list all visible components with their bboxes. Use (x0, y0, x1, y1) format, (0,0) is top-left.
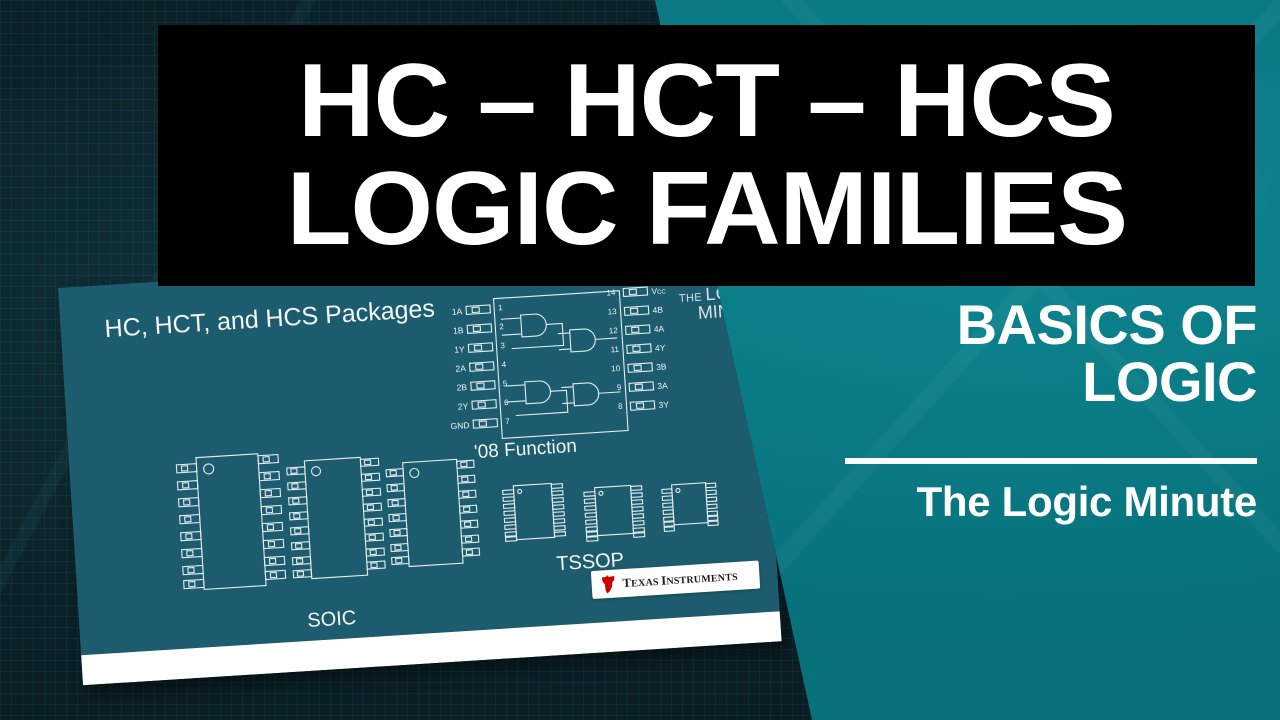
svg-text:3: 3 (500, 341, 506, 350)
svg-text:7: 7 (505, 417, 511, 426)
presentation-slide: HC, HCT, and HCS Packages THE LOGIC MINU… (58, 244, 782, 685)
soic-label: SOIC (307, 607, 357, 633)
svg-text:4: 4 (501, 360, 507, 369)
title-banner: HC – HCT – HCS LOGIC FAMILIES (158, 25, 1255, 286)
svg-text:11: 11 (610, 345, 619, 355)
svg-text:3A: 3A (657, 380, 668, 391)
ti-wordmark: TEXAS INSTRUMENTS (622, 568, 738, 590)
pinout-left-numbers: 1 2 3 4 5 6 7 (498, 303, 511, 426)
svg-text:VCC: VCC (651, 285, 667, 296)
texas-shape-icon (600, 574, 617, 594)
tssop-package-1 (502, 483, 565, 542)
svg-text:GND: GND (450, 420, 469, 431)
svg-text:10: 10 (611, 364, 621, 374)
title-line-2: LOGIC FAMILIES (286, 159, 1126, 261)
tssop-package-3 (662, 482, 719, 531)
soic-package-1 (176, 453, 286, 591)
pinout-right-labels: VCC 4B 4A 4Y 3B 3A 3Y (651, 285, 674, 410)
svg-text:4Y: 4Y (655, 342, 666, 353)
svg-text:4B: 4B (652, 305, 663, 316)
svg-text:3Y: 3Y (658, 399, 669, 410)
pinout-right-pins (623, 287, 655, 410)
series-divider (845, 458, 1257, 464)
svg-text:3B: 3B (656, 361, 667, 372)
svg-text:1B: 1B (453, 325, 464, 336)
video-thumbnail-stage: HC, HCT, and HCS Packages THE LOGIC MINU… (0, 0, 1280, 720)
svg-text:14: 14 (606, 288, 616, 298)
series-subtitle: The Logic Minute (845, 478, 1257, 526)
svg-text:6: 6 (504, 398, 510, 407)
svg-text:2: 2 (499, 322, 505, 331)
tssop-package-group (491, 469, 726, 563)
svg-text:13: 13 (607, 307, 617, 317)
svg-text:8: 8 (618, 402, 624, 411)
pinout-left-pins (466, 305, 498, 428)
soic-package-3 (386, 458, 480, 567)
svg-text:9: 9 (617, 383, 623, 392)
soic-package-group (154, 432, 483, 612)
svg-text:5: 5 (503, 379, 509, 388)
soic-package-2 (286, 456, 385, 580)
svg-text:2B: 2B (456, 382, 467, 393)
svg-text:1: 1 (498, 303, 504, 312)
slide-title: HC, HCT, and HCS Packages (104, 294, 436, 344)
svg-text:12: 12 (609, 326, 619, 336)
svg-text:1Y: 1Y (454, 344, 465, 355)
tssop-package-2 (584, 485, 645, 542)
svg-text:1A: 1A (452, 306, 463, 317)
svg-text:2A: 2A (455, 363, 466, 374)
series-heading-line-1: BASICS OF (845, 296, 1257, 353)
slide-bottom-bar (81, 611, 782, 685)
series-heading-line-2: LOGIC (845, 353, 1257, 410)
pinout-left-labels: 1A 1B 1Y 2A 2B 2Y GND (443, 306, 470, 431)
series-panel: BASICS OF LOGIC The Logic Minute (845, 296, 1257, 526)
title-line-1: HC – HCT – HCS (298, 51, 1115, 153)
pinout-diagram: 1A 1B 1Y 2A 2B 2Y GND 1 2 3 4 5 6 7 VCC … (431, 274, 731, 457)
svg-text:4A: 4A (653, 324, 664, 335)
svg-text:2Y: 2Y (458, 401, 469, 412)
internal-and-gates (501, 309, 622, 416)
